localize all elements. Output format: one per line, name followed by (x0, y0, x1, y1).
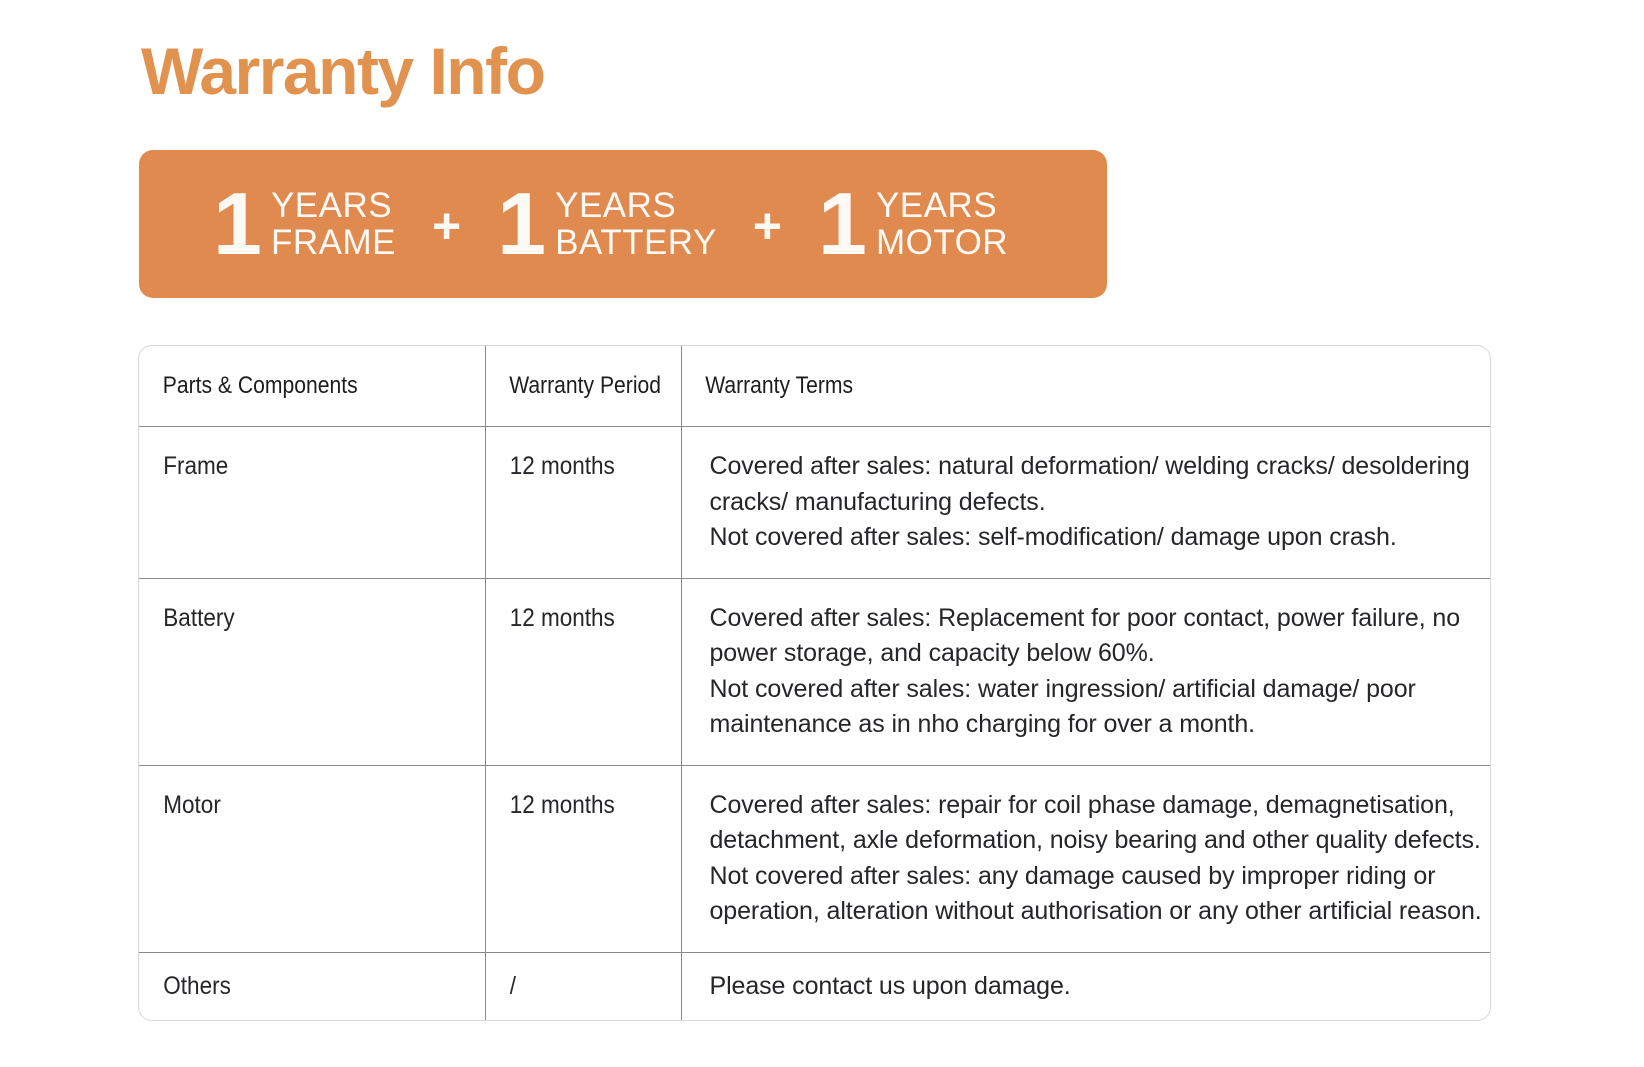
row-battery-terms-line: power storage, and capacity below 60%. (710, 636, 1475, 672)
warranty-term-battery-unit: YEARS (555, 187, 717, 224)
row-others-terms-line: Please contact us upon damage. (710, 969, 1475, 1005)
warranty-term-frame-part: FRAME (271, 224, 396, 261)
table-row: Others / Please contact us upon damage. (139, 952, 1490, 1020)
row-motor-terms-line: Not covered after sales: any damage caus… (710, 859, 1475, 895)
header-warranty-period: Warranty Period (485, 346, 657, 427)
warranty-table-body: Frame 12 months Covered after sales: nat… (139, 427, 1490, 1021)
warranty-term-battery-text: YEARS BATTERY (555, 187, 717, 262)
row-battery-terms-line: Not covered after sales: water ingressio… (710, 672, 1475, 708)
warranty-term-battery-part: BATTERY (555, 224, 717, 261)
row-frame-terms-line: cracks/ manufacturing defects. (710, 485, 1475, 521)
warranty-table: Parts & Components Warranty Period Warra… (139, 346, 1490, 1020)
row-battery-terms-line: Covered after sales: Replacement for poo… (710, 601, 1475, 637)
header-warranty-terms: Warranty Terms (681, 346, 1393, 427)
header-parts-components: Parts & Components (139, 346, 443, 427)
row-others-period: / (485, 952, 661, 1020)
table-row: Battery 12 months Covered after sales: R… (139, 578, 1490, 765)
row-others-part: Others (139, 952, 450, 1020)
warranty-table-container: Parts & Components Warranty Period Warra… (138, 345, 1491, 1021)
row-frame-terms: Covered after sales: natural deformation… (681, 427, 1490, 579)
table-row: Frame 12 months Covered after sales: nat… (139, 427, 1490, 579)
plus-separator-2: + (753, 197, 782, 251)
row-motor-part: Motor (139, 765, 450, 952)
row-battery-terms-line: maintenance as in nho charging for over … (710, 707, 1475, 743)
table-row: Motor 12 months Covered after sales: rep… (139, 765, 1490, 952)
warranty-term-motor-text: YEARS MOTOR (876, 187, 1008, 262)
row-frame-terms-line: Covered after sales: natural deformation… (710, 449, 1475, 485)
row-motor-terms-line: detachment, axle deformation, noisy bear… (710, 823, 1475, 859)
warranty-term-frame-number: 1 (213, 184, 260, 265)
warranty-term-frame-text: YEARS FRAME (271, 187, 396, 262)
warranty-term-motor-part: MOTOR (876, 224, 1008, 261)
table-header-row: Parts & Components Warranty Period Warra… (139, 346, 1490, 427)
warranty-info-page: Warranty Info 1 YEARS FRAME + 1 YEARS BA… (0, 0, 1644, 1067)
warranty-term-battery: 1 YEARS BATTERY (497, 184, 717, 265)
warranty-term-frame-unit: YEARS (271, 187, 396, 224)
row-frame-terms-line: Not covered after sales: self-modificati… (710, 520, 1475, 556)
row-motor-terms-line: operation, alteration without authorisat… (710, 894, 1475, 930)
row-battery-period: 12 months (485, 578, 661, 765)
row-others-terms: Please contact us upon damage. (681, 952, 1490, 1020)
warranty-term-motor: 1 YEARS MOTOR (818, 184, 1008, 265)
warranty-table-head: Parts & Components Warranty Period Warra… (139, 346, 1490, 427)
warranty-term-motor-unit: YEARS (876, 187, 1008, 224)
warranty-term-motor-number: 1 (818, 184, 865, 265)
row-motor-period: 12 months (485, 765, 661, 952)
row-battery-part: Battery (139, 578, 450, 765)
row-battery-terms: Covered after sales: Replacement for poo… (681, 578, 1490, 765)
warranty-term-frame: 1 YEARS FRAME (213, 184, 396, 265)
warranty-term-battery-number: 1 (497, 184, 544, 265)
warranty-summary-banner: 1 YEARS FRAME + 1 YEARS BATTERY + 1 YEAR… (139, 150, 1107, 298)
row-motor-terms-line: Covered after sales: repair for coil pha… (710, 788, 1475, 824)
page-title: Warranty Info (141, 38, 544, 104)
plus-separator-1: + (432, 197, 461, 251)
row-motor-terms: Covered after sales: repair for coil pha… (681, 765, 1490, 952)
row-frame-part: Frame (139, 427, 450, 579)
row-frame-period: 12 months (485, 427, 661, 579)
